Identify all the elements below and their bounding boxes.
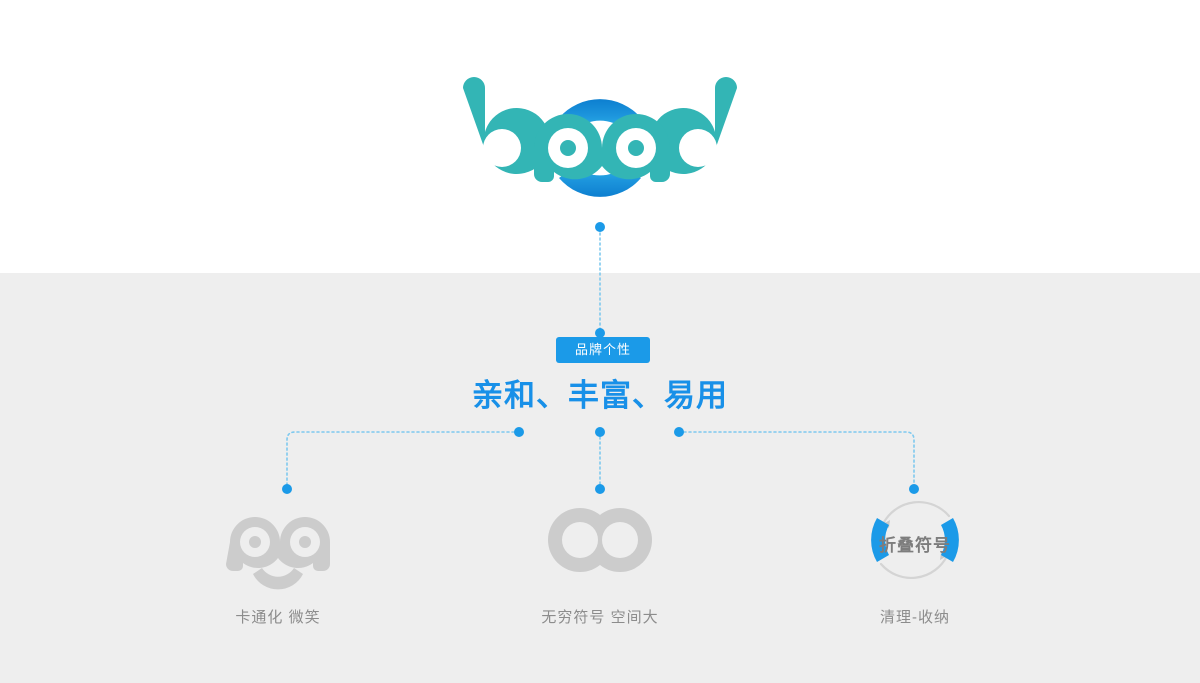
poster-canvas: 品牌个性 亲和、丰富、易用 卡通化 微笑 无穷符号 空间大: [0, 0, 1200, 683]
brand-personality-badge: 品牌个性: [556, 337, 650, 363]
pillar-clean-storage: 清理-收纳: [785, 490, 1045, 628]
infinity-symbol-icon: [470, 490, 730, 590]
pillar-label: 卡通化 微笑: [148, 608, 408, 628]
boad-logo-svg: [455, 70, 745, 220]
fold-arc-right: [941, 518, 959, 562]
logo-pupil-right: [628, 140, 644, 156]
pillar-infinity-space: 无穷符号 空间大: [470, 490, 730, 628]
pillar-label: 无穷符号 空间大: [470, 608, 730, 628]
folding-cycle-icon: [785, 490, 1045, 590]
logo-pupil-left: [560, 140, 576, 156]
fold-arc-left: [871, 518, 889, 562]
boad-logo: [455, 70, 745, 220]
cartoon-face-icon: [148, 490, 408, 590]
page-title: 亲和、丰富、易用: [0, 378, 1200, 414]
logo-face-icon: [534, 114, 670, 182]
pillar-cartoon-smile: 卡通化 微笑: [148, 490, 408, 628]
pillar-label: 清理-收纳: [785, 608, 1045, 628]
